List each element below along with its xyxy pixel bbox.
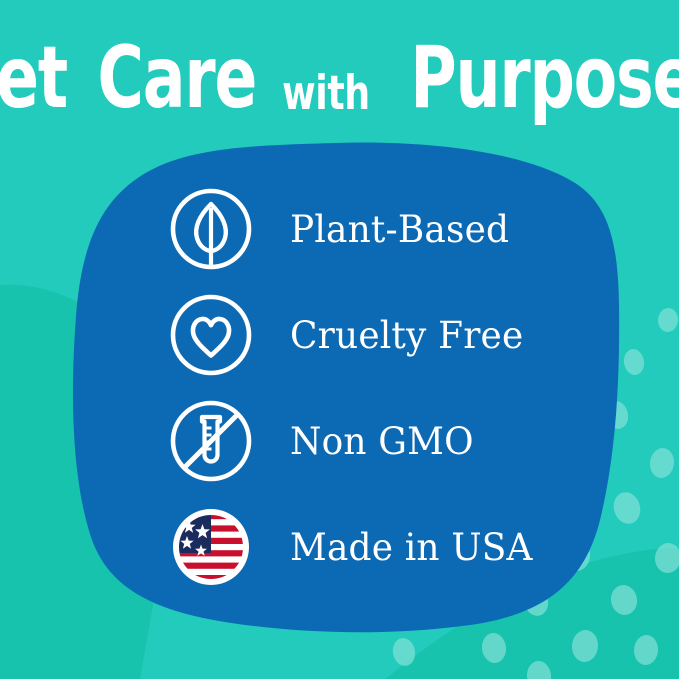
feature-row-plant-based: Plant-Based: [168, 176, 598, 282]
feature-row-non-gmo: Non GMO: [168, 388, 598, 494]
feature-row-cruelty-free: Cruelty Free: [168, 282, 598, 388]
leaf-icon: [168, 186, 254, 272]
feature-label-non-gmo: Non GMO: [290, 420, 474, 463]
usa-flag-icon: [168, 504, 254, 590]
feature-label-plant-based: Plant-Based: [290, 208, 509, 251]
heart-icon: [168, 292, 254, 378]
feature-label-cruelty-free: Cruelty Free: [290, 314, 523, 357]
pet-care-with-purpose-poster: Pet Care with Purpose ® Plant-Based: [0, 0, 679, 679]
no-test-tube-icon: [168, 398, 254, 484]
feature-list: Plant-Based Cruelty Free: [168, 176, 598, 600]
feature-row-made-in-usa: Made in USA: [168, 494, 598, 600]
feature-label-made-in-usa: Made in USA: [290, 526, 533, 569]
